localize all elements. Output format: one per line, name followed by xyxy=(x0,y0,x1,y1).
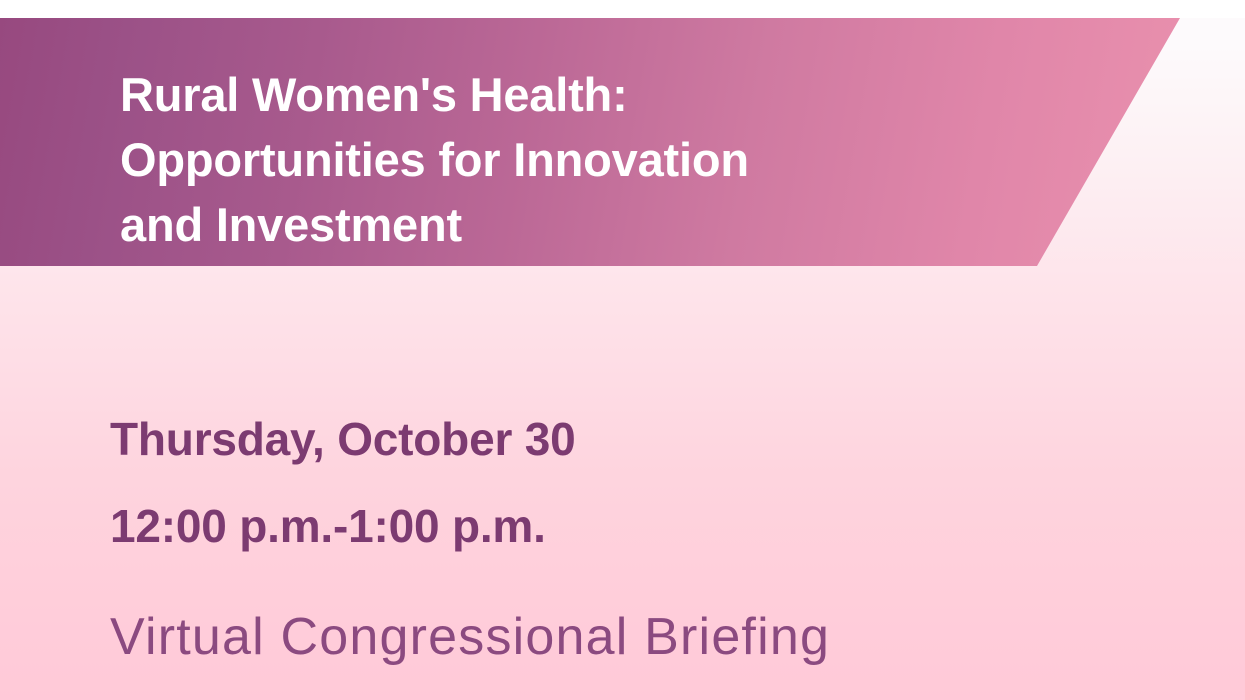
event-promo-card: Rural Women's Health: Opportunities for … xyxy=(0,0,1245,700)
event-title-line-2: Opportunities for Innovation xyxy=(120,127,1050,192)
event-title-line-1: Rural Women's Health: xyxy=(120,62,1050,127)
event-type-label: Virtual Congressional Briefing xyxy=(110,602,830,672)
event-date: Thursday, October 30 xyxy=(110,396,1130,483)
event-time: 12:00 p.m.-1:00 p.m. xyxy=(110,483,1130,570)
event-details-block: Thursday, October 30 12:00 p.m.-1:00 p.m… xyxy=(110,396,1130,570)
top-white-margin xyxy=(0,0,1245,18)
event-title-line-3: and Investment xyxy=(120,192,1050,257)
title-block: Rural Women's Health: Opportunities for … xyxy=(120,62,1050,257)
title-banner: Rural Women's Health: Opportunities for … xyxy=(0,18,1245,266)
